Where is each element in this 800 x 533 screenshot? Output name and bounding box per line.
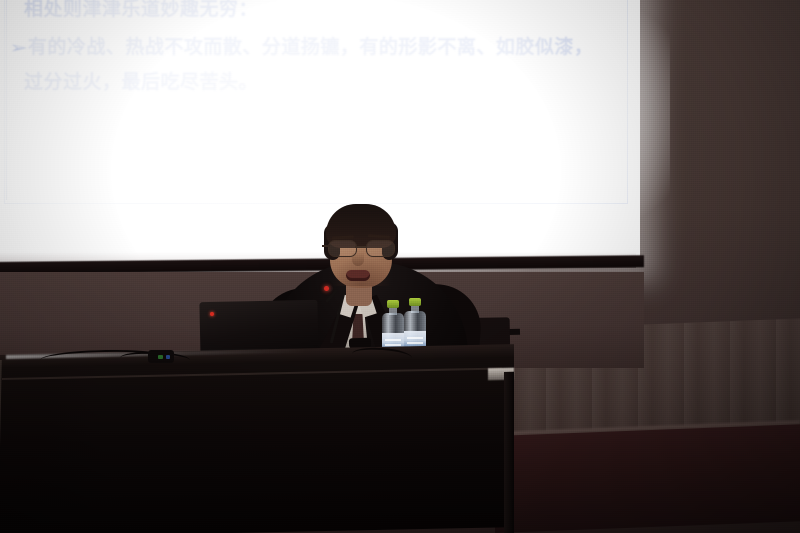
bottle-label-line [385,339,401,341]
bottle-cap [387,300,399,308]
podium-front-panel [0,357,514,533]
bottle-cap [409,298,421,306]
slide-text-block: 相处则津津乐道妙趣无穷： ➢有的冷战、热战不攻而散、分道扬镳，有的形影不离、如胶… [12,0,622,99]
adapter-led-blue-icon [166,355,170,359]
eyeglass-lens-right [366,240,395,257]
stage-skirt [495,424,800,533]
slide-left-rule [6,0,7,200]
bottle-label-line [407,342,423,344]
eyeglass-bridge [355,246,366,248]
adapter-led-green-icon [158,355,163,359]
bullet-arrow-icon: ➢ [9,31,28,65]
photograph-scene: 相处则津津乐道妙趣无穷： ➢有的冷战、热战不攻而散、分道扬镳，有的形影不离、如胶… [0,0,800,533]
podium-right-edge [504,372,514,533]
bottle-label-line [385,344,401,346]
laptop-logo-icon [210,312,214,316]
slide-line-2: ➢有的冷战、热战不攻而散、分道扬镳，有的形影不离、如胶似漆， [12,30,622,65]
microphone-led-icon [324,286,329,291]
slide-line-1: 相处则津津乐道妙趣无穷： [24,0,622,24]
right-wall [636,0,800,340]
speaker-mouth [346,270,370,281]
slide-line-2-text: 有的冷战、热战不攻而散、分道扬镳，有的形影不离、如胶似漆， [28,36,594,58]
slide-line-3: 过分过火，最后吃尽苦头。 [24,65,622,99]
eyeglass-temple [322,245,330,247]
speaker-nose [352,252,364,266]
bottle-label-line [407,337,423,339]
